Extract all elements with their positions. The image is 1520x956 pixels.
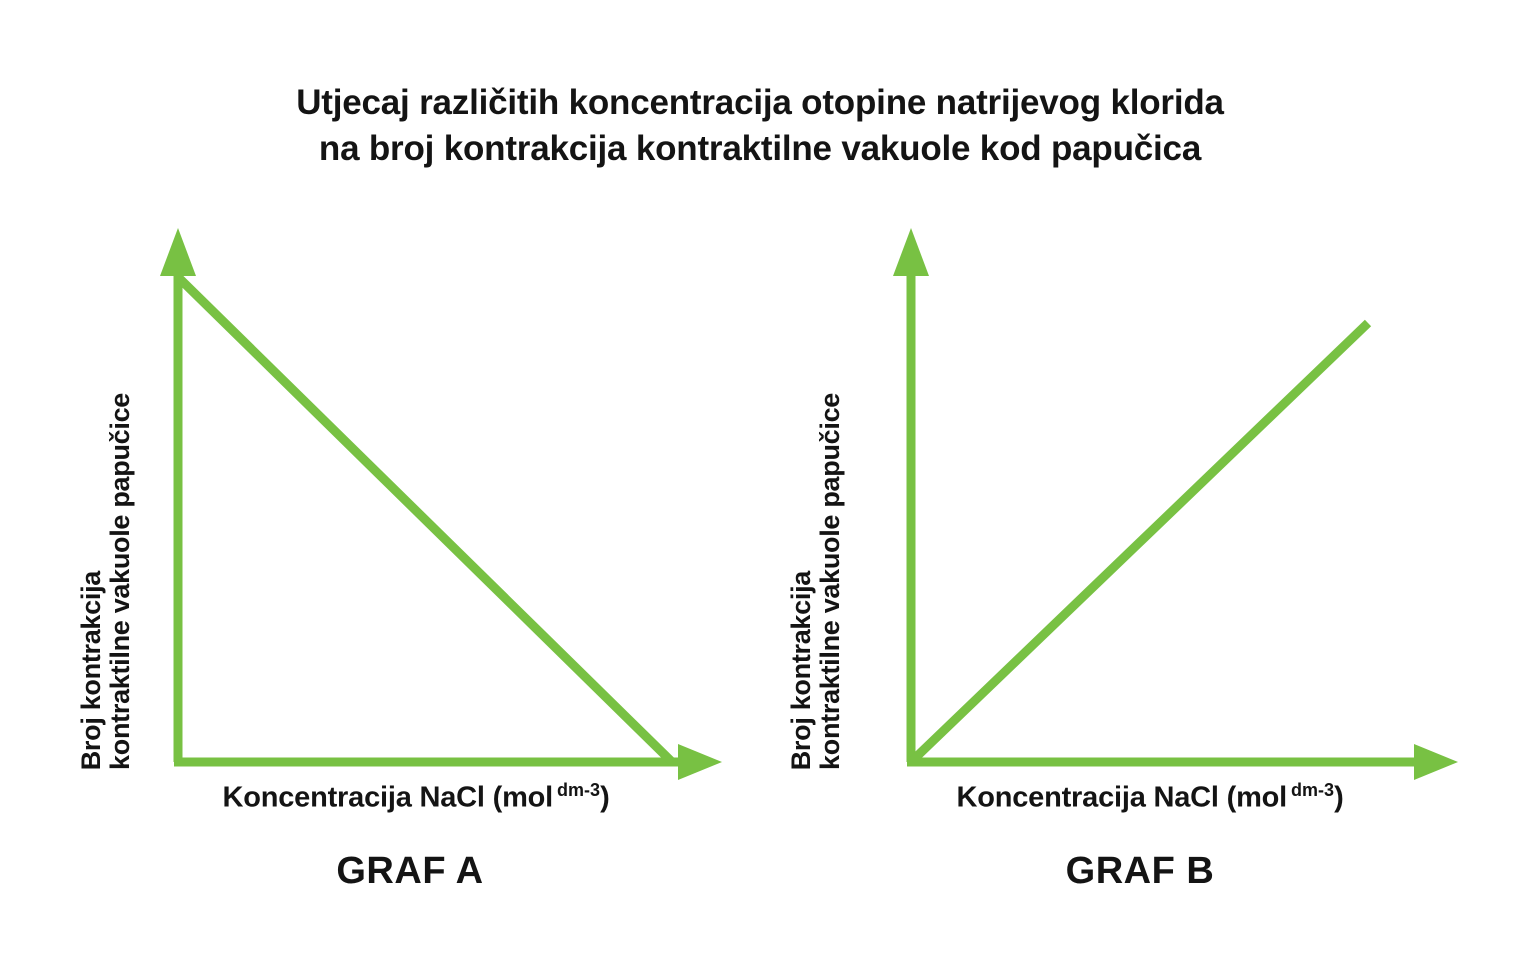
graf-a-y-axis	[160, 228, 196, 762]
graf-a-data-line	[179, 278, 672, 762]
graf-b-plot-area	[760, 200, 1480, 800]
graf-b-x-axis-label: Koncentracija NaCl (moldm-3)	[760, 780, 1510, 815]
graf-b-data-line	[912, 323, 1368, 761]
figure-title-line-1: Utjecaj različitih koncentracija otopine…	[0, 80, 1520, 126]
graf-b-y-axis-label-line-1: Broj kontrakcija	[788, 571, 815, 770]
chart-panel-graf-a: Broj kontrakcija kontraktilne vakuole pa…	[20, 200, 740, 940]
graf-a-y-axis-label-line-1: Broj kontrakcija	[78, 571, 105, 770]
graf-a-x-axis-label: Koncentracija NaCl (moldm-3)	[20, 780, 776, 815]
graf-a-caption: GRAF A	[20, 850, 770, 893]
figure-title: Utjecaj različitih koncentracija otopine…	[0, 80, 1520, 172]
graf-b-y-axis	[893, 228, 929, 762]
figure-title-line-2: na broj kontrakcija kontraktilne vakuole…	[0, 126, 1520, 172]
graf-a-x-axis	[174, 744, 722, 780]
graf-a-y-axis-label: Broj kontrakcija kontraktilne vakuole pa…	[78, 230, 158, 770]
chart-panel-graf-b: Broj kontrakcija kontraktilne vakuole pa…	[760, 200, 1480, 940]
graf-a-x-axis-label-superscript: dm-3	[553, 780, 600, 800]
graf-a-x-axis-label-tail: )	[600, 782, 609, 814]
graf-b-x-axis	[907, 744, 1458, 780]
graf-b-caption: GRAF B	[760, 850, 1500, 893]
graf-b-x-axis-label-base: Koncentracija NaCl (mol	[956, 782, 1287, 814]
figure-canvas: Utjecaj različitih koncentracija otopine…	[0, 0, 1520, 956]
graf-a-y-axis-label-line-2: kontraktilne vakuole papučice	[107, 393, 134, 770]
graf-b-y-axis-label: Broj kontrakcija kontraktilne vakuole pa…	[788, 230, 868, 770]
graf-b-x-axis-label-tail: )	[1334, 782, 1343, 814]
graf-a-x-axis-label-base: Koncentracija NaCl (mol	[222, 782, 553, 814]
graf-b-x-axis-label-superscript: dm-3	[1287, 780, 1334, 800]
graf-b-y-axis-label-line-2: kontraktilne vakuole papučice	[817, 393, 844, 770]
